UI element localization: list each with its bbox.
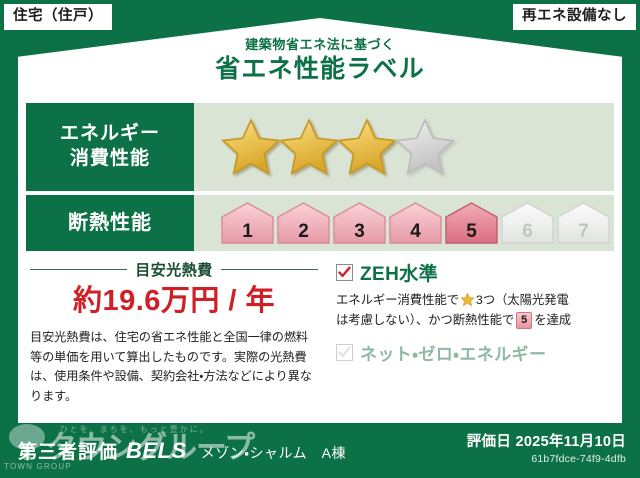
footer-bar: 第三者評価 BELS メゾン・シャルム A棟 評価日 2025年11月10日 6… — [0, 423, 640, 478]
zeh-description: エネルギー消費性能で3つ（太陽光発電 は考慮しない）、かつ断熱性能で5を達成 — [336, 291, 612, 331]
cost-heading: 目安光熱費 — [30, 259, 318, 280]
zeh-checkbox-checked — [336, 264, 353, 281]
property-name: メゾン・シャルム A棟 — [201, 443, 346, 463]
insulation-level-number: 2 — [276, 222, 331, 241]
roof-shape — [18, 18, 622, 104]
insulation-level-6: 6 — [500, 201, 555, 245]
insulation-level-number: 5 — [444, 222, 499, 241]
badge-building-type: 住宅（住戸） — [4, 4, 112, 30]
insulation-level-2: 2 — [276, 201, 331, 245]
zeh-desc-part2: は考慮しない）、かつ断熱性能で — [336, 313, 514, 327]
footer-left-group: 第三者評価 BELS メゾン・シャルム A棟 — [18, 437, 467, 464]
cost-disclaimer-text: 目安光熱費は、住宅の省エネ性能と全国一律の燃料等の単価を用いて算出したものです。… — [30, 328, 318, 407]
insulation-level-7: 7 — [556, 201, 611, 245]
lower-section: 目安光熱費 約19.6万円 / 年 目安光熱費は、住宅の省エネ性能と全国一律の燃… — [26, 257, 614, 407]
zeh-column: ZEH水準 エネルギー消費性能で3つ（太陽光発電 は考慮しない）、かつ断熱性能で… — [326, 257, 614, 407]
insulation-label: 断熱性能 — [68, 210, 152, 236]
zeh-title: ZEH水準 — [360, 259, 438, 286]
badge-renewable-energy: 再エネ設備なし — [513, 4, 636, 30]
insulation-level-number: 1 — [220, 222, 275, 241]
zeh-insulation-chip: 5 — [516, 312, 532, 329]
energy-label-line1: エネルギー — [60, 122, 160, 147]
insulation-performance-row: 断熱性能 1234567 — [26, 195, 614, 251]
energy-performance-label-box: エネルギー 消費性能 — [26, 103, 194, 191]
evaluation-date-value: 2025年11月10日 — [515, 434, 626, 450]
evaluation-date: 評価日 2025年11月10日 — [467, 434, 626, 451]
estimated-annual-cost: 約19.6万円 / 年 — [30, 286, 318, 318]
cost-heading-rule-right — [221, 269, 318, 270]
label-card: エネルギー 消費性能 断熱性能 1234567 目安光熱費 約19.6万 — [18, 95, 622, 423]
cost-heading-label: 目安光熱費 — [135, 259, 213, 280]
insulation-level-5: 5 — [444, 201, 499, 245]
zeh-desc-part3: を達成 — [534, 313, 571, 327]
third-party-evaluation-label: 第三者評価 — [18, 437, 118, 464]
insulation-level-number: 7 — [556, 222, 611, 241]
energy-performance-label: 住宅（住戸） 再エネ設備なし 建築物省エネ法に基づく 省エネ性能ラベル エネルギ… — [0, 0, 640, 478]
energy-label-line2: 消費性能 — [70, 147, 150, 172]
energy-cost-column: 目安光熱費 約19.6万円 / 年 目安光熱費は、住宅の省エネ性能と全国一律の燃… — [26, 257, 326, 407]
inline-star-icon — [460, 292, 475, 307]
star-filled-icon — [220, 116, 282, 178]
star-filled-icon — [336, 116, 398, 178]
net-zero-energy-status-line: ネット・ゼロ・エネルギー — [336, 340, 612, 365]
net-zero-energy-label: ネット・ゼロ・エネルギー — [360, 340, 546, 365]
star-empty-icon — [394, 116, 456, 178]
insulation-level-1: 1 — [220, 201, 275, 245]
star-rating — [194, 103, 614, 191]
net-zero-energy-checkbox-unchecked — [336, 344, 353, 361]
evaluation-date-label: 評価日 — [467, 434, 511, 450]
cost-heading-rule-left — [30, 269, 127, 270]
zeh-status-line: ZEH水準 — [336, 259, 612, 286]
zeh-desc-part1: エネルギー消費性能で — [336, 293, 459, 307]
insulation-level-number: 6 — [500, 222, 555, 241]
insulation-performance-label-box: 断熱性能 — [26, 195, 194, 251]
insulation-level-number: 3 — [332, 222, 387, 241]
energy-performance-row: エネルギー 消費性能 — [26, 103, 614, 191]
evaluation-id: 61b7fdce-74f9-4dfb — [467, 453, 626, 467]
insulation-level-3: 3 — [332, 201, 387, 245]
zeh-desc-stars: 3つ（太陽光発電 — [476, 293, 569, 307]
insulation-level-scale: 1234567 — [220, 201, 611, 245]
insulation-level-4: 4 — [388, 201, 443, 245]
bels-logo: BELS — [126, 438, 187, 464]
star-filled-icon — [278, 116, 340, 178]
insulation-level-number: 4 — [388, 222, 443, 241]
footer-right-group: 評価日 2025年11月10日 61b7fdce-74f9-4dfb — [467, 434, 626, 467]
